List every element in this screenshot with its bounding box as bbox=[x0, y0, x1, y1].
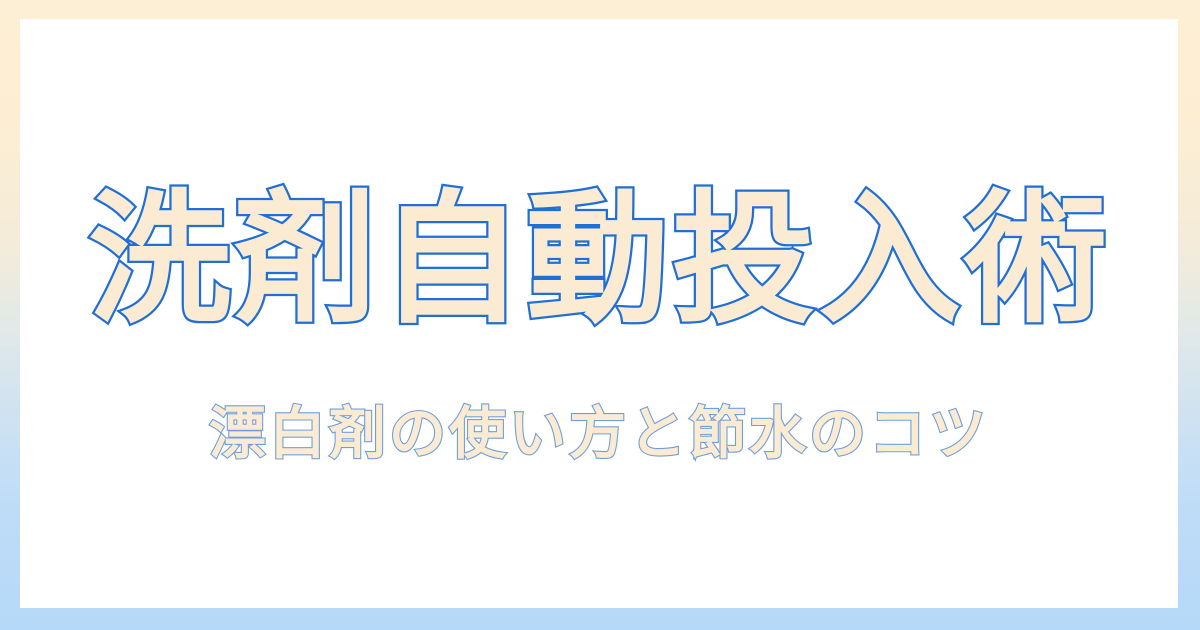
banner-title: 洗剤自動投入術 bbox=[88, 188, 1110, 331]
banner-content: 洗剤自動投入術 漂白剤の使い方と節水のコツ bbox=[20, 19, 1178, 608]
subtitle-container: 漂白剤の使い方と節水のコツ bbox=[209, 400, 989, 470]
title-container: 洗剤自動投入術 bbox=[88, 182, 1110, 338]
banner-canvas: 洗剤自動投入術 漂白剤の使い方と節水のコツ bbox=[0, 0, 1200, 630]
banner-subtitle: 漂白剤の使い方と節水のコツ bbox=[209, 406, 989, 463]
